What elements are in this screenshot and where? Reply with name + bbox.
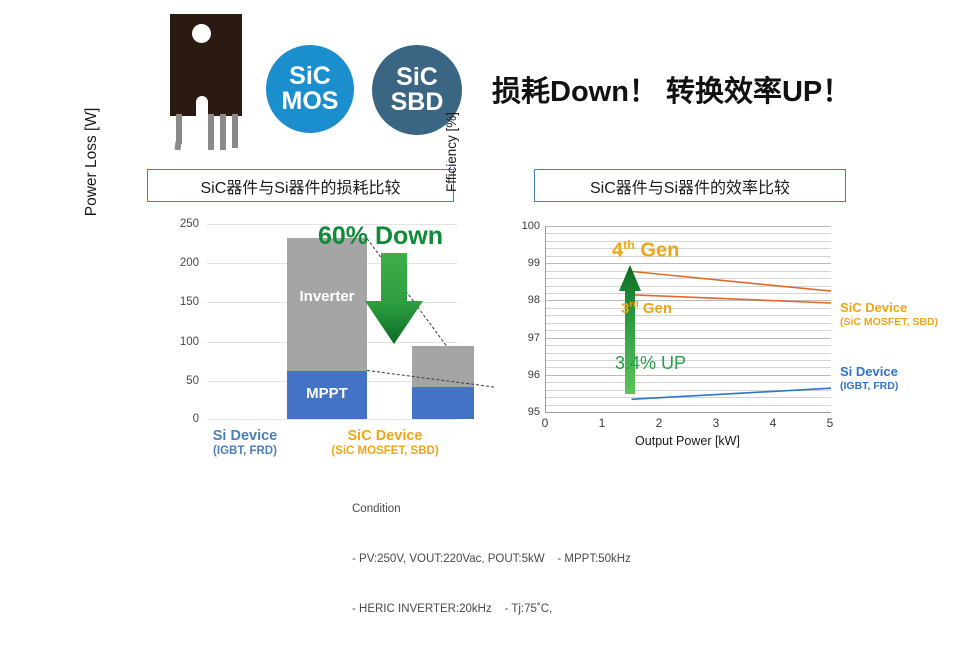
bar-sic-mppt [412,387,474,419]
bar-si-mppt: MPPT [287,371,367,419]
annotation-3rd-gen-rest: Gen [639,300,672,317]
x-tick-4: 4 [770,416,777,430]
condition-title: Condition [352,501,631,518]
annotation-4th-gen-rest: Gen [635,240,679,262]
annotation-4th-gen-sup: th [623,238,635,252]
badge-sic-sbd-line1: SiC [396,65,438,91]
to220-transistor-icon [150,14,262,150]
x-tick-3: 3 [713,416,720,430]
x-category-si-device: Si Device (IGBT, FRD) [185,428,305,458]
y-tick-100: 100 [506,220,540,232]
x-category-sic-device: SiC Device (SiC MOSFET, SBD) [310,428,460,458]
legend-si-device-sub: (IGBT, FRD) [840,380,950,393]
down-arrow-icon [363,253,425,345]
badge-sic-mos-line1: SiC [289,64,331,90]
series-lines [546,226,831,412]
y-tick-96: 96 [506,369,540,381]
annotation-60-percent-down: 60% Down [318,222,443,251]
page-title: 损耗Down！ 转换效率UP！ [492,68,851,110]
y-axis-label-right: Ffficiency [%] [444,62,459,242]
section-title-efficiency: SiC器件与Si器件的效率比较 [534,169,846,202]
annotation-4th-gen-num: 4 [612,240,623,262]
y-tick-50: 50 [159,375,199,387]
slide-canvas: SiC MOS SiC SBD 损耗Down！ 转换效率UP！ SiC器件与Si… [0,0,960,540]
x-category-sic-device-name: SiC Device [310,428,460,445]
plot-area-right: 100 99 98 97 96 95 [545,226,831,413]
y-axis-label-left: Power Loss [W] [83,72,101,252]
annotation-4th-gen: 4th Gen [612,238,679,263]
y-tick-95: 95 [506,406,540,418]
line-4th-gen [632,271,832,291]
y-tick-200: 200 [159,257,199,269]
badge-sic-mos: SiC MOS [266,45,354,133]
legend-sic-device: SiC Device (SiC MOSFET, SBD) [840,300,960,328]
x-tick-5: 5 [827,416,834,430]
badge-sic-sbd-line2: SBD [391,90,444,116]
x-tick-1: 1 [599,416,606,430]
y-tick-250: 250 [159,218,199,230]
annotation-3-4-percent-up: 3.4% UP [615,353,686,374]
condition-line-1: - PV:250V, VOUT:220Vac, POUT:5kW - MPPT:… [352,551,631,568]
bar-label-mppt: MPPT [287,385,367,402]
x-tick-2: 2 [656,416,663,430]
efficiency-line-chart: Ffficiency [%] 100 99 98 97 96 95 [490,212,950,462]
legend-sic-device-sub: (SiC MOSFET, SBD) [840,316,960,329]
legend-sic-device-name: SiC Device [840,300,960,316]
section-title-loss: SiC器件与Si器件的损耗比较 [147,169,454,202]
x-axis-label-right: Output Power [kW] [545,434,830,448]
condition-line-2: - HERIC INVERTER:20kHz - Tj:75˚C, [352,601,631,618]
x-category-sic-device-sub: (SiC MOSFET, SBD) [310,445,460,458]
x-tick-0: 0 [542,416,549,430]
y-tick-0: 0 [159,413,199,425]
legend-si-device-name: Si Device [840,364,950,380]
up-arrow-icon [618,265,642,395]
bar-si-inverter: Inverter [287,238,367,371]
x-category-si-device-name: Si Device [185,428,305,445]
x-category-si-device-sub: (IGBT, FRD) [185,445,305,458]
line-si-device [632,388,832,399]
badge-sic-mos-line2: MOS [282,89,339,115]
legend-si-device: Si Device (IGBT, FRD) [840,364,950,392]
y-tick-150: 150 [159,296,199,308]
annotation-3rd-gen-sup: rd [629,299,638,309]
annotation-3rd-gen: 3rd Gen [621,299,672,317]
y-tick-98: 98 [506,294,540,306]
condition-block: Condition - PV:250V, VOUT:220Vac, POUT:5… [352,468,631,651]
bar-label-inverter: Inverter [287,288,367,305]
y-tick-99: 99 [506,257,540,269]
y-tick-97: 97 [506,332,540,344]
y-tick-100: 100 [159,336,199,348]
